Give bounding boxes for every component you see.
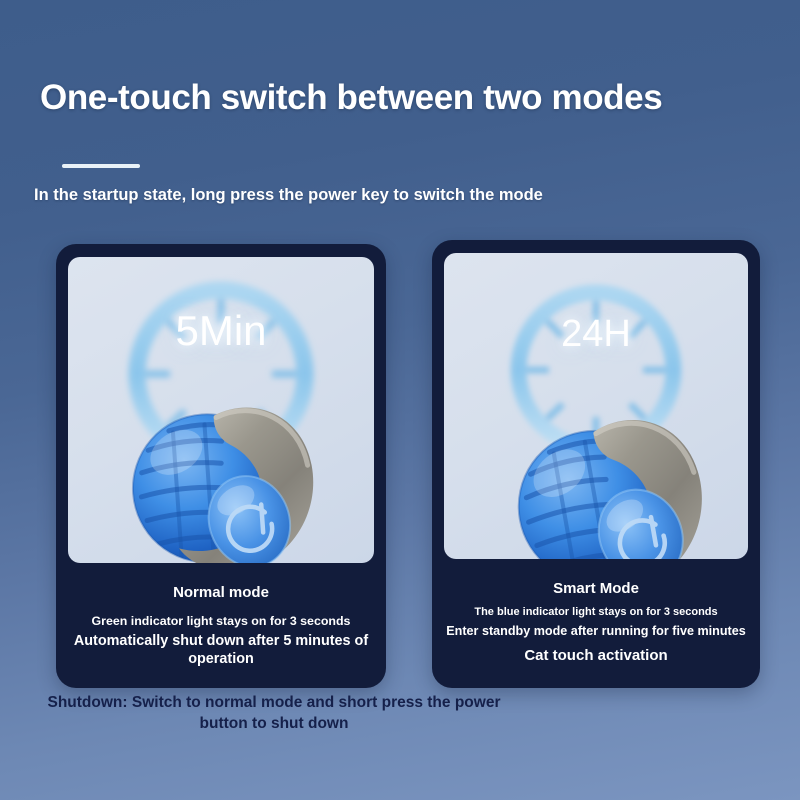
product-image-panel-smart: 24H [444,253,748,559]
card-description-smart: The blue indicator light stays on for 3 … [440,606,752,665]
page-subtitle: In the startup state, long press the pow… [34,186,774,205]
card-title-normal: Normal mode [56,584,386,601]
card-line: Green indicator light stays on for 3 sec… [64,614,378,629]
promo-page: One-touch switch between two modes In th… [0,0,800,800]
product-image-panel-normal: 5Min [68,257,374,563]
card-line: Enter standby mode after running for fiv… [440,624,752,639]
card-line: Cat touch activation [440,647,752,665]
card-line: Automatically shut down after 5 minutes … [64,633,378,668]
mode-card-smart: 24H [432,240,760,688]
timer-dial-label: 24H [501,313,691,356]
card-line: The blue indicator light stays on for 3 … [440,606,752,619]
shutdown-instruction: Shutdown: Switch to normal mode and shor… [24,692,524,735]
accent-rule-divider [62,164,140,168]
card-description-normal: Green indicator light stays on for 3 sec… [64,614,378,668]
card-title-smart: Smart Mode [432,580,760,597]
page-title: One-touch switch between two modes [40,78,760,118]
product-ball-image [102,341,349,563]
mode-card-normal: 5Min [56,244,386,688]
